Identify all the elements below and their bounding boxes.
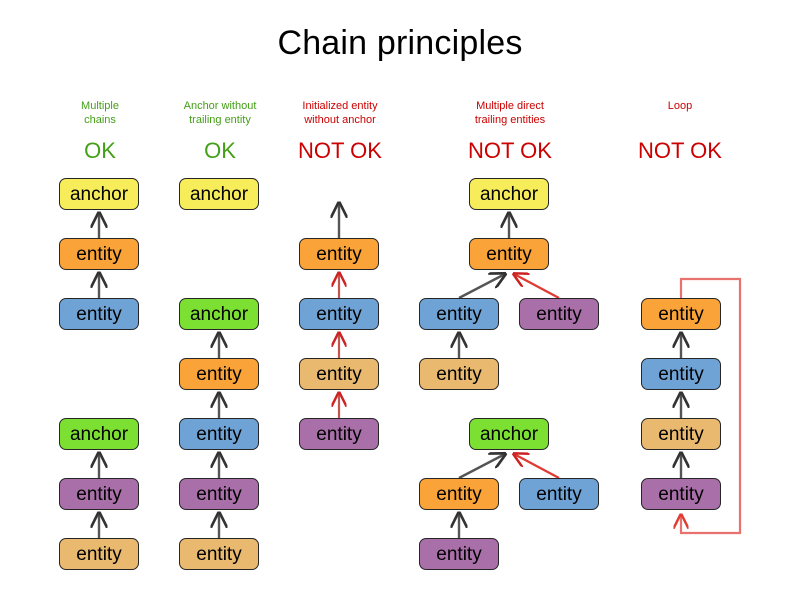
node-entity[interactable]: entity xyxy=(419,358,499,390)
caption-line-2: trailing entity xyxy=(160,113,280,127)
column-verdict-multiple-direct-trailing-entities: NOT OK xyxy=(450,139,570,163)
diagram-canvas: Chain principles Multiple chains OK Anch… xyxy=(0,0,800,600)
column-caption-anchor-without-trailing-entity: Anchor without trailing entity xyxy=(160,99,280,127)
node-entity[interactable]: entity xyxy=(179,418,259,450)
node-entity[interactable]: entity xyxy=(179,538,259,570)
caption-line-2: chains xyxy=(40,113,160,127)
node-anchor[interactable]: anchor xyxy=(179,298,259,330)
column-verdict-anchor-without-trailing-entity: OK xyxy=(160,139,280,163)
column-caption-multiple-chains: Multiple chains xyxy=(40,99,160,127)
caption-line-2: without anchor xyxy=(280,113,400,127)
node-entity[interactable]: entity xyxy=(59,478,139,510)
column-verdict-loop: NOT OK xyxy=(620,139,740,163)
column-caption-multiple-direct-trailing-entities: Multiple direct trailing entities xyxy=(450,99,570,127)
column-caption-initialized-entity-without-anchor: Initialized entity without anchor xyxy=(280,99,400,127)
node-anchor[interactable]: anchor xyxy=(179,178,259,210)
column-caption-loop: Loop xyxy=(620,99,740,113)
column-verdict-initialized-entity-without-anchor: NOT OK xyxy=(280,139,400,163)
node-entity[interactable]: entity xyxy=(299,238,379,270)
node-entity[interactable]: entity xyxy=(59,238,139,270)
node-entity[interactable]: entity xyxy=(641,418,721,450)
node-anchor[interactable]: anchor xyxy=(469,178,549,210)
caption-line-2: trailing entities xyxy=(450,113,570,127)
node-entity[interactable]: entity xyxy=(641,358,721,390)
node-entity[interactable]: entity xyxy=(179,358,259,390)
node-entity[interactable]: entity xyxy=(179,478,259,510)
node-anchor[interactable]: anchor xyxy=(59,178,139,210)
column-verdict-multiple-chains: OK xyxy=(40,139,160,163)
node-entity[interactable]: entity xyxy=(59,298,139,330)
node-entity[interactable]: entity xyxy=(641,478,721,510)
caption-line-1: Loop xyxy=(620,99,740,113)
node-entity[interactable]: entity xyxy=(419,298,499,330)
caption-line-1: Initialized entity xyxy=(280,99,400,113)
node-anchor[interactable]: anchor xyxy=(469,418,549,450)
node-entity[interactable]: entity xyxy=(419,538,499,570)
node-entity[interactable]: entity xyxy=(519,298,599,330)
node-entity[interactable]: entity xyxy=(419,478,499,510)
caption-line-1: Anchor without xyxy=(160,99,280,113)
caption-line-1: Multiple direct xyxy=(450,99,570,113)
node-entity[interactable]: entity xyxy=(641,298,721,330)
node-entity[interactable]: entity xyxy=(469,238,549,270)
node-anchor[interactable]: anchor xyxy=(59,418,139,450)
node-entity[interactable]: entity xyxy=(299,358,379,390)
node-entity[interactable]: entity xyxy=(299,298,379,330)
page-title: Chain principles xyxy=(0,24,800,63)
node-entity[interactable]: entity xyxy=(299,418,379,450)
caption-line-1: Multiple xyxy=(40,99,160,113)
node-entity[interactable]: entity xyxy=(519,478,599,510)
node-entity[interactable]: entity xyxy=(59,538,139,570)
